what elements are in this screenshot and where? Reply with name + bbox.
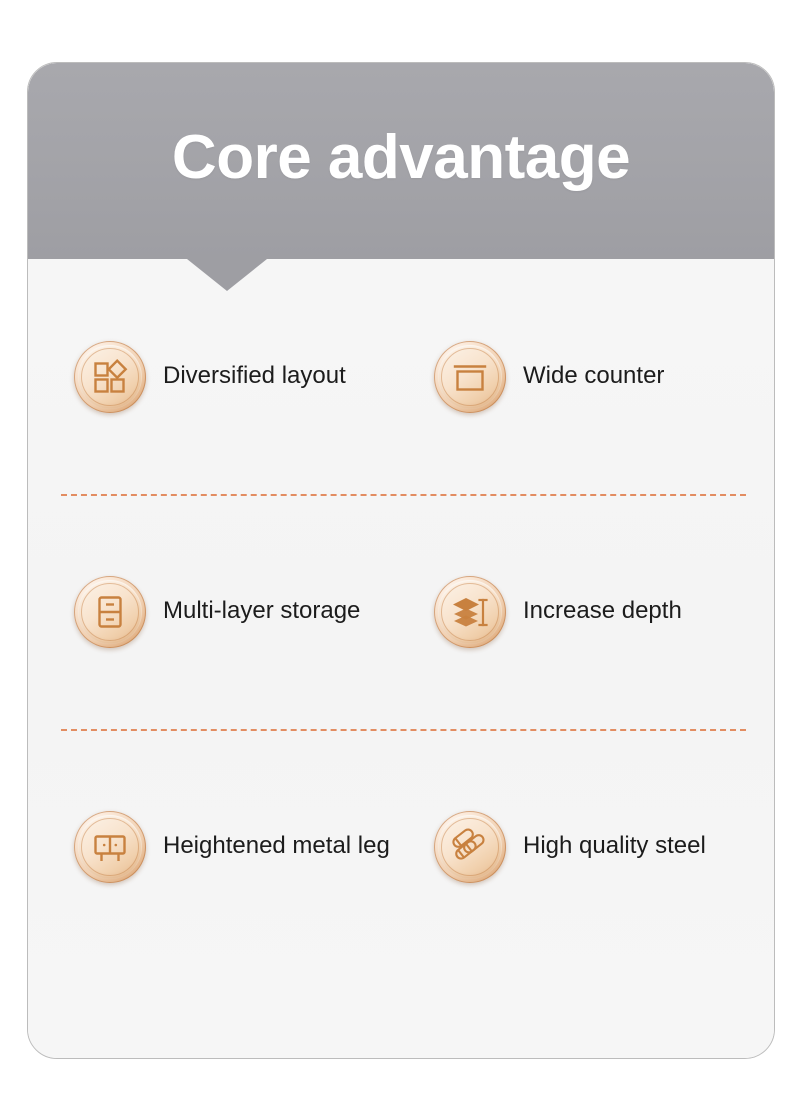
page-root: Core advantage — [0, 0, 800, 1109]
feature-label: High quality steel — [523, 832, 706, 861]
cabinet-legs-icon — [74, 811, 146, 883]
page-title: Core advantage — [28, 63, 774, 259]
feature-label: Heightened metal leg — [163, 832, 390, 861]
feature-label: Increase depth — [523, 597, 682, 626]
feature-label: Wide counter — [523, 362, 664, 391]
wide-counter-icon — [434, 341, 506, 413]
drawer-cabinet-icon — [74, 576, 146, 648]
stacked-layers-depth-icon — [434, 576, 506, 648]
layout-grid-diamond-icon — [74, 341, 146, 413]
feature-label: Multi-layer storage — [163, 597, 360, 626]
feature-row: Multi-layer storage — [28, 494, 774, 729]
feature-item-wide-counter[interactable]: Wide counter — [401, 341, 774, 413]
feature-item-heightened-metal-leg[interactable]: Heightened metal leg — [28, 811, 401, 883]
feature-item-diversified-layout[interactable]: Diversified layout — [28, 341, 401, 413]
card-header-banner: Core advantage — [28, 63, 774, 259]
core-advantage-card: Core advantage — [27, 62, 775, 1059]
feature-row: Heightened metal leg — [28, 729, 774, 964]
feature-row: Diversified layout Wide counter — [28, 259, 774, 494]
feature-item-high-quality-steel[interactable]: High quality steel — [401, 811, 774, 883]
steel-pipes-icon — [434, 811, 506, 883]
card-body: Core advantage — [28, 63, 774, 1058]
feature-list: Diversified layout Wide counter — [28, 259, 774, 964]
feature-item-increase-depth[interactable]: Increase depth — [401, 576, 774, 648]
feature-item-multi-layer-storage[interactable]: Multi-layer storage — [28, 576, 401, 648]
feature-label: Diversified layout — [163, 362, 346, 391]
